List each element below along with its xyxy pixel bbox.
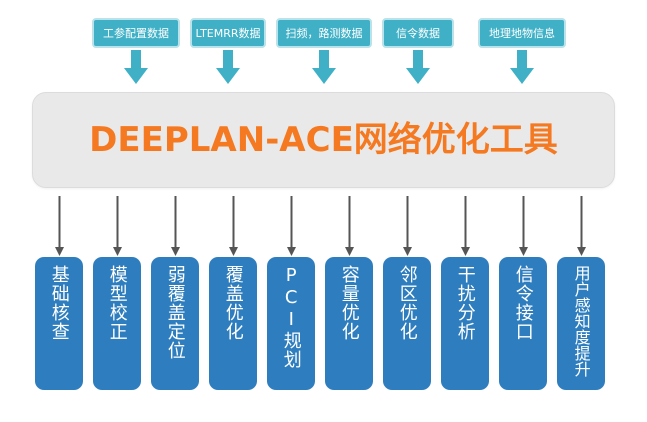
down-arrow-icon — [405, 50, 431, 86]
connector-arrow-icon — [228, 196, 239, 258]
module-box-label: 信令接口 — [513, 265, 532, 341]
module-box-label: 用户感知度提升 — [572, 265, 589, 377]
connector-arrow-icon — [286, 196, 297, 258]
source-box-label: 信令数据 — [396, 28, 440, 39]
module-box[interactable]: PCI规划 — [267, 257, 315, 390]
connector-arrow-icon — [402, 196, 413, 258]
connector-arrow-icon — [170, 196, 181, 258]
connector-arrow-icon — [344, 196, 355, 258]
down-arrow-icon — [123, 50, 149, 86]
connector-arrow-icon — [576, 196, 587, 258]
connector-arrow-icon — [54, 196, 65, 258]
module-box[interactable]: 容量优化 — [325, 257, 373, 390]
down-arrow-icon — [215, 50, 241, 86]
module-box-label: 基础核查 — [49, 265, 68, 341]
module-box[interactable]: 基础核查 — [35, 257, 83, 390]
diagram-canvas: 工参配置数据 LTEMRR数据 扫频，路测数据 信令数据 地理地物信息 DEEP… — [0, 0, 647, 422]
connector-arrow-icon — [112, 196, 123, 258]
module-box-label: PCI规划 — [281, 265, 300, 369]
module-box-label: 弱覆盖定位 — [165, 265, 184, 360]
module-box[interactable]: 覆盖优化 — [209, 257, 257, 390]
main-title-banner: DEEPLAN-ACE网络优化工具 — [32, 92, 615, 188]
source-box-label: LTEMRR数据 — [195, 28, 260, 39]
module-box-label: 容量优化 — [339, 265, 358, 341]
module-box-label: 模型校正 — [107, 265, 126, 341]
module-box-label: 覆盖优化 — [223, 265, 242, 341]
source-box-label: 扫频，路测数据 — [286, 28, 363, 39]
source-box: 地理地物信息 — [478, 18, 566, 48]
down-arrow-icon — [311, 50, 337, 86]
source-box-row: 工参配置数据 LTEMRR数据 扫频，路测数据 信令数据 地理地物信息 — [0, 18, 647, 50]
module-box[interactable]: 干扰分析 — [441, 257, 489, 390]
module-box-label: 干扰分析 — [455, 265, 474, 341]
connector-arrow-icon — [460, 196, 471, 258]
source-box: 信令数据 — [382, 18, 454, 48]
module-box[interactable]: 邻区优化 — [383, 257, 431, 390]
module-box[interactable]: 信令接口 — [499, 257, 547, 390]
source-box: LTEMRR数据 — [190, 18, 266, 48]
source-box: 扫频，路测数据 — [276, 18, 372, 48]
module-box[interactable]: 模型校正 — [93, 257, 141, 390]
connector-arrow-icon — [518, 196, 529, 258]
module-box[interactable]: 用户感知度提升 — [557, 257, 605, 390]
source-box-label: 工参配置数据 — [103, 28, 169, 39]
module-box-label: 邻区优化 — [397, 265, 416, 341]
down-arrow-icon — [509, 50, 535, 86]
source-box: 工参配置数据 — [92, 18, 180, 48]
page-title: DEEPLAN-ACE网络优化工具 — [89, 123, 558, 157]
module-box[interactable]: 弱覆盖定位 — [151, 257, 199, 390]
source-box-label: 地理地物信息 — [489, 28, 555, 39]
